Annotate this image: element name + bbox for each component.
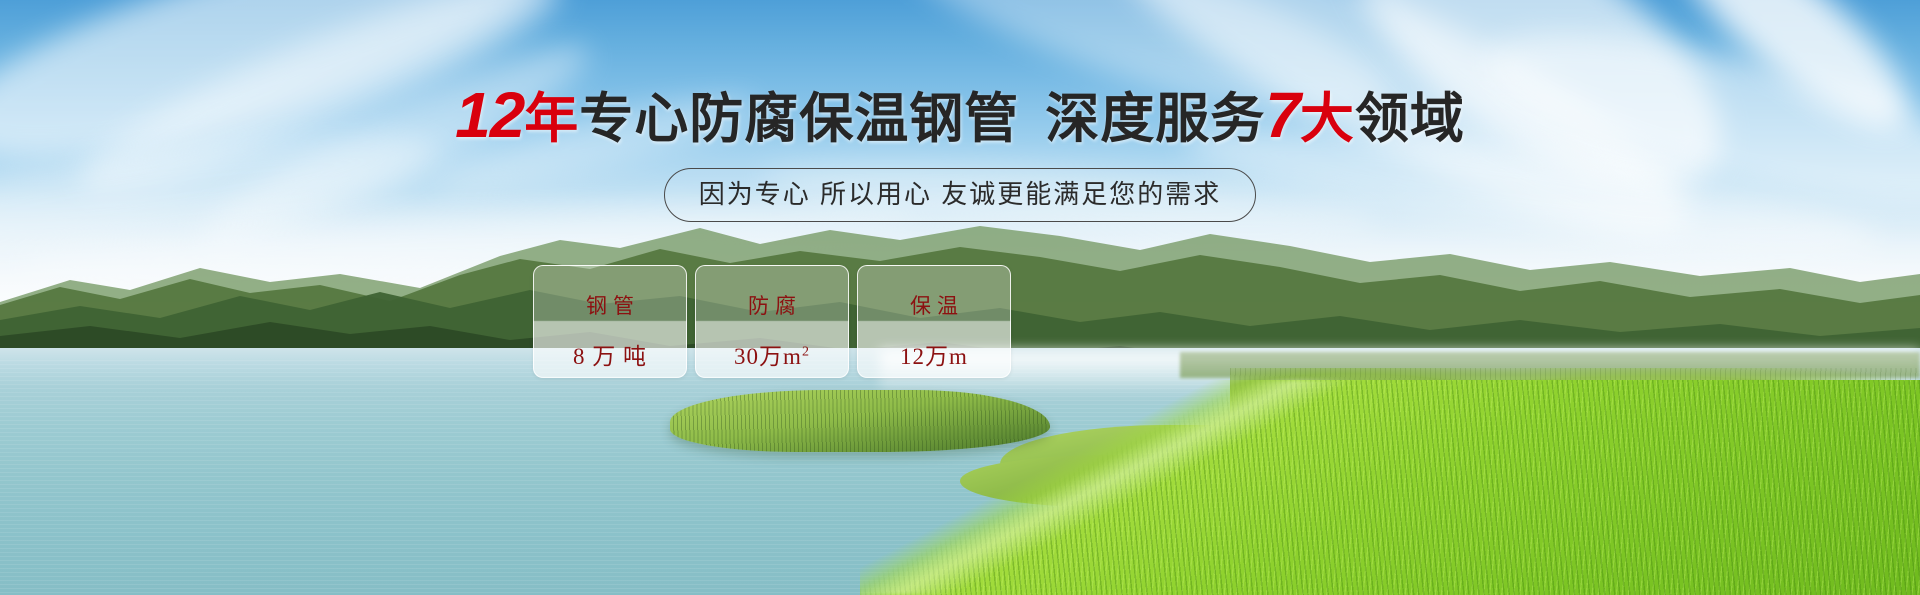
stat-card-title: 保温 bbox=[904, 290, 964, 320]
stat-card-list: 钢管 8 万 吨 防腐 30万m2 保温 12万m bbox=[533, 265, 1011, 378]
stat-card-title: 防腐 bbox=[742, 290, 802, 320]
stat-card-value-text: 30万m bbox=[734, 344, 802, 369]
stat-card-title: 钢管 bbox=[580, 290, 640, 320]
stat-card-value: 12万m bbox=[900, 337, 968, 371]
banner-content: 12年专心防腐保温钢管深度服务7大领域 因为专心 所以用心 友诚更能满足您的需求… bbox=[0, 0, 1920, 595]
headline-years-number: 12 bbox=[455, 79, 524, 151]
promo-banner: 12年专心防腐保温钢管深度服务7大领域 因为专心 所以用心 友诚更能满足您的需求… bbox=[0, 0, 1920, 595]
stat-card-value-text: 12万m bbox=[900, 344, 968, 369]
stat-card-value: 30万m2 bbox=[734, 337, 810, 371]
headline-years-unit: 年 bbox=[524, 89, 579, 149]
subtitle-pill: 因为专心 所以用心 友诚更能满足您的需求 bbox=[664, 168, 1256, 222]
headline: 12年专心防腐保温钢管深度服务7大领域 bbox=[0, 84, 1920, 150]
headline-fields-unit: 大 bbox=[1300, 89, 1355, 149]
stat-card-value-text: 8 万 吨 bbox=[573, 344, 647, 369]
subtitle-wrapper: 因为专心 所以用心 友诚更能满足您的需求 bbox=[0, 168, 1920, 222]
headline-fields-tail: 领域 bbox=[1355, 89, 1465, 149]
stat-card-steel-pipe: 钢管 8 万 吨 bbox=[533, 265, 687, 378]
stat-card-value: 8 万 吨 bbox=[573, 337, 647, 371]
stat-card-value-exponent: 2 bbox=[802, 344, 810, 359]
headline-fields-number: 7 bbox=[1265, 79, 1300, 151]
headline-main-text: 专心防腐保温钢管 bbox=[579, 89, 1019, 149]
stat-card-insulation: 保温 12万m bbox=[857, 265, 1011, 378]
stat-card-anticorrosion: 防腐 30万m2 bbox=[695, 265, 849, 378]
headline-service-text: 深度服务 bbox=[1045, 89, 1265, 149]
